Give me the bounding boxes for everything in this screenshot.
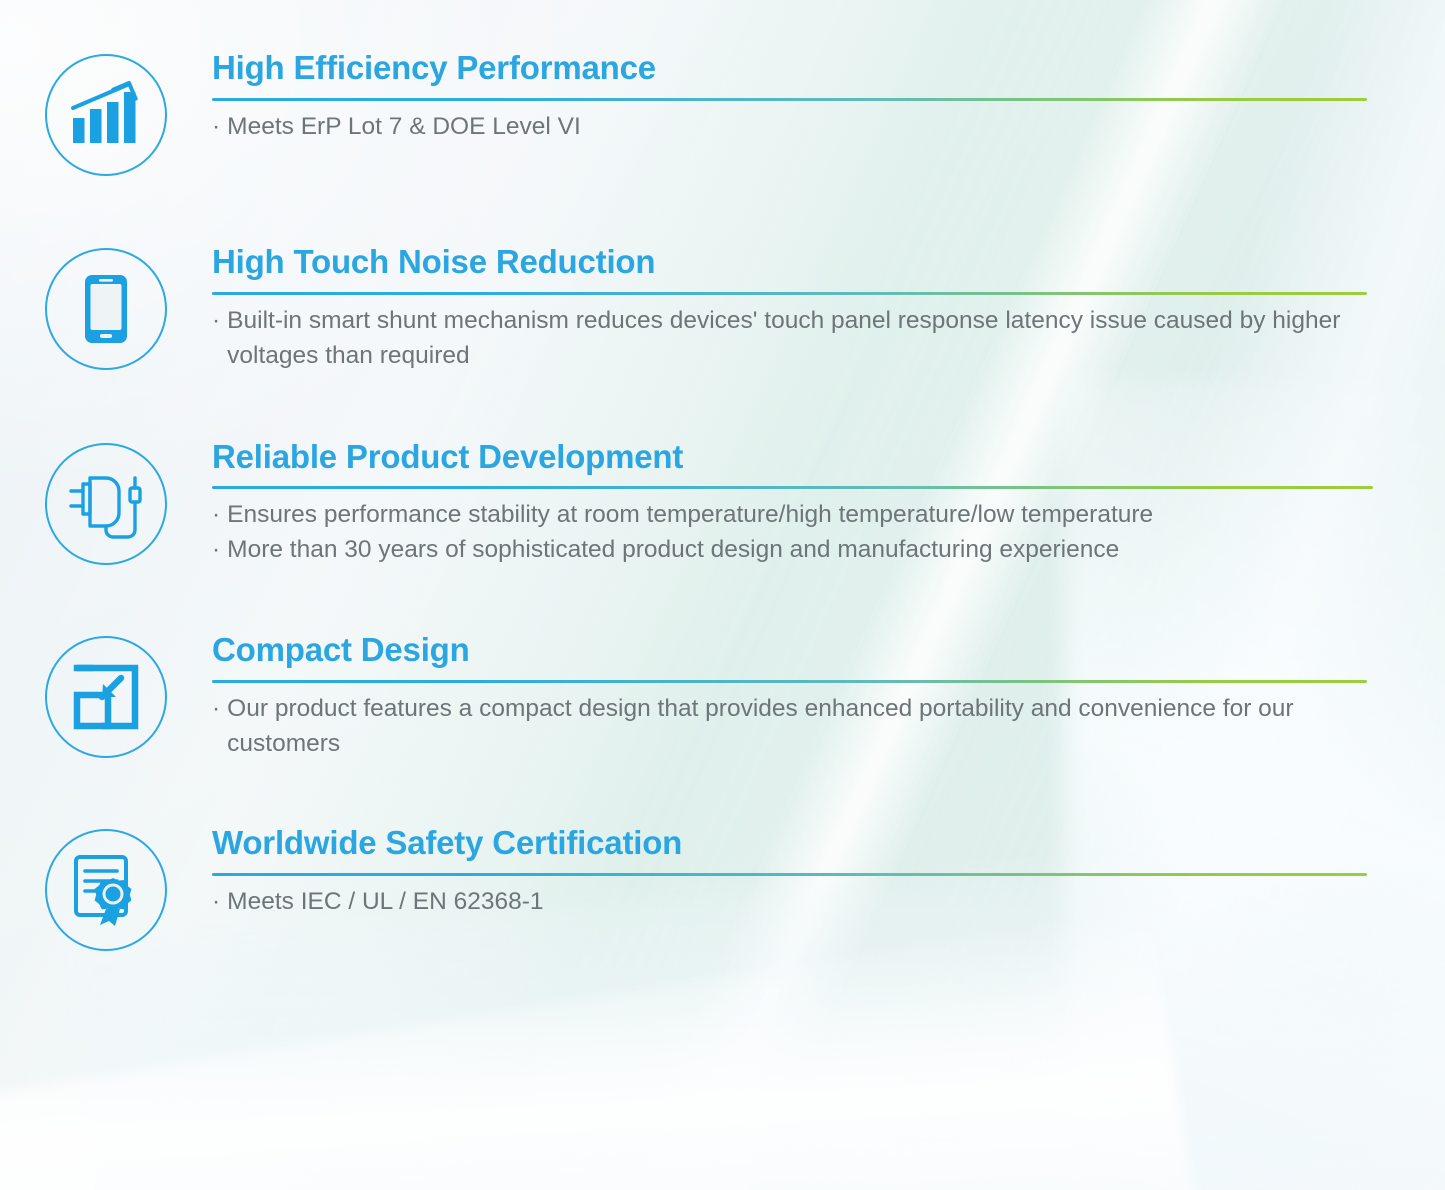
bullet-marker-icon: · <box>212 692 220 727</box>
feature-title: Reliable Product Development <box>212 439 1373 476</box>
feature-divider-rule <box>212 486 1373 489</box>
feature-list-page: High Efficiency Performance · Meets ErP … <box>0 0 1445 1190</box>
feature-bullets: · Ensures performance stability at room … <box>212 498 1373 568</box>
feature-icon-container <box>0 825 212 951</box>
feature-list: High Efficiency Performance · Meets ErP … <box>0 0 1445 951</box>
bullet-text: Meets ErP Lot 7 & DOE Level VI <box>227 110 1367 145</box>
power-adapter-icon <box>45 443 167 565</box>
feature-text-container: Reliable Product Development · Ensures p… <box>212 439 1445 569</box>
feature-bullets: · Our product features a compact design … <box>212 692 1367 762</box>
bullet-item: · Ensures performance stability at room … <box>212 498 1373 533</box>
bullet-item: · Meets IEC / UL / EN 62368-1 <box>212 885 1367 920</box>
background-band-bottom-highlight <box>0 910 1195 1190</box>
bar-chart-growth-icon <box>45 54 167 176</box>
bullet-text: Ensures performance stability at room te… <box>227 498 1373 533</box>
bullet-item: · Built-in smart shunt mechanism reduces… <box>212 304 1367 374</box>
feature-title: Compact Design <box>212 632 1367 669</box>
certificate-award-icon <box>45 829 167 951</box>
bullet-marker-icon: · <box>212 304 220 339</box>
bullet-marker-icon: · <box>212 498 220 533</box>
feature-item-compact-design: Compact Design · Our product features a … <box>0 632 1445 762</box>
feature-text-container: Compact Design · Our product features a … <box>212 632 1445 762</box>
bullet-marker-icon: · <box>212 533 220 568</box>
feature-icon-container <box>0 632 212 758</box>
feature-divider-rule <box>212 292 1367 295</box>
feature-text-container: High Touch Noise Reduction · Built-in sm… <box>212 244 1445 374</box>
feature-title: Worldwide Safety Certification <box>212 825 1367 862</box>
bullet-marker-icon: · <box>212 885 220 920</box>
feature-divider-rule <box>212 98 1367 101</box>
feature-divider-rule <box>212 873 1367 876</box>
feature-text-container: High Efficiency Performance · Meets ErP … <box>212 50 1445 145</box>
feature-item-high-touch-noise-reduction: High Touch Noise Reduction · Built-in sm… <box>0 244 1445 374</box>
feature-divider-rule <box>212 680 1367 683</box>
feature-item-worldwide-safety-certification: Worldwide Safety Certification · Meets I… <box>0 825 1445 951</box>
bullet-text: Meets IEC / UL / EN 62368-1 <box>227 885 1367 920</box>
bullet-item: · Meets ErP Lot 7 & DOE Level VI <box>212 110 1367 145</box>
feature-icon-container <box>0 244 212 370</box>
smartphone-icon <box>45 248 167 370</box>
feature-icon-container <box>0 50 212 176</box>
feature-title: High Touch Noise Reduction <box>212 244 1367 281</box>
bullet-item: · More than 30 years of sophisticated pr… <box>212 533 1373 568</box>
bullet-text: Built-in smart shunt mechanism reduces d… <box>227 304 1367 374</box>
feature-item-reliable-product-development: Reliable Product Development · Ensures p… <box>0 439 1445 569</box>
feature-bullets: · Built-in smart shunt mechanism reduces… <box>212 304 1367 374</box>
feature-icon-container <box>0 439 212 565</box>
feature-title: High Efficiency Performance <box>212 50 1367 87</box>
bullet-marker-icon: · <box>212 110 220 145</box>
bullet-text: Our product features a compact design th… <box>227 692 1367 762</box>
feature-text-container: Worldwide Safety Certification · Meets I… <box>212 825 1445 920</box>
bullet-text: More than 30 years of sophisticated prod… <box>227 533 1373 568</box>
feature-bullets: · Meets ErP Lot 7 & DOE Level VI <box>212 110 1367 145</box>
feature-bullets: · Meets IEC / UL / EN 62368-1 <box>212 885 1367 920</box>
bullet-item: · Our product features a compact design … <box>212 692 1367 762</box>
feature-item-high-efficiency-performance: High Efficiency Performance · Meets ErP … <box>0 50 1445 176</box>
compact-resize-icon <box>45 636 167 758</box>
